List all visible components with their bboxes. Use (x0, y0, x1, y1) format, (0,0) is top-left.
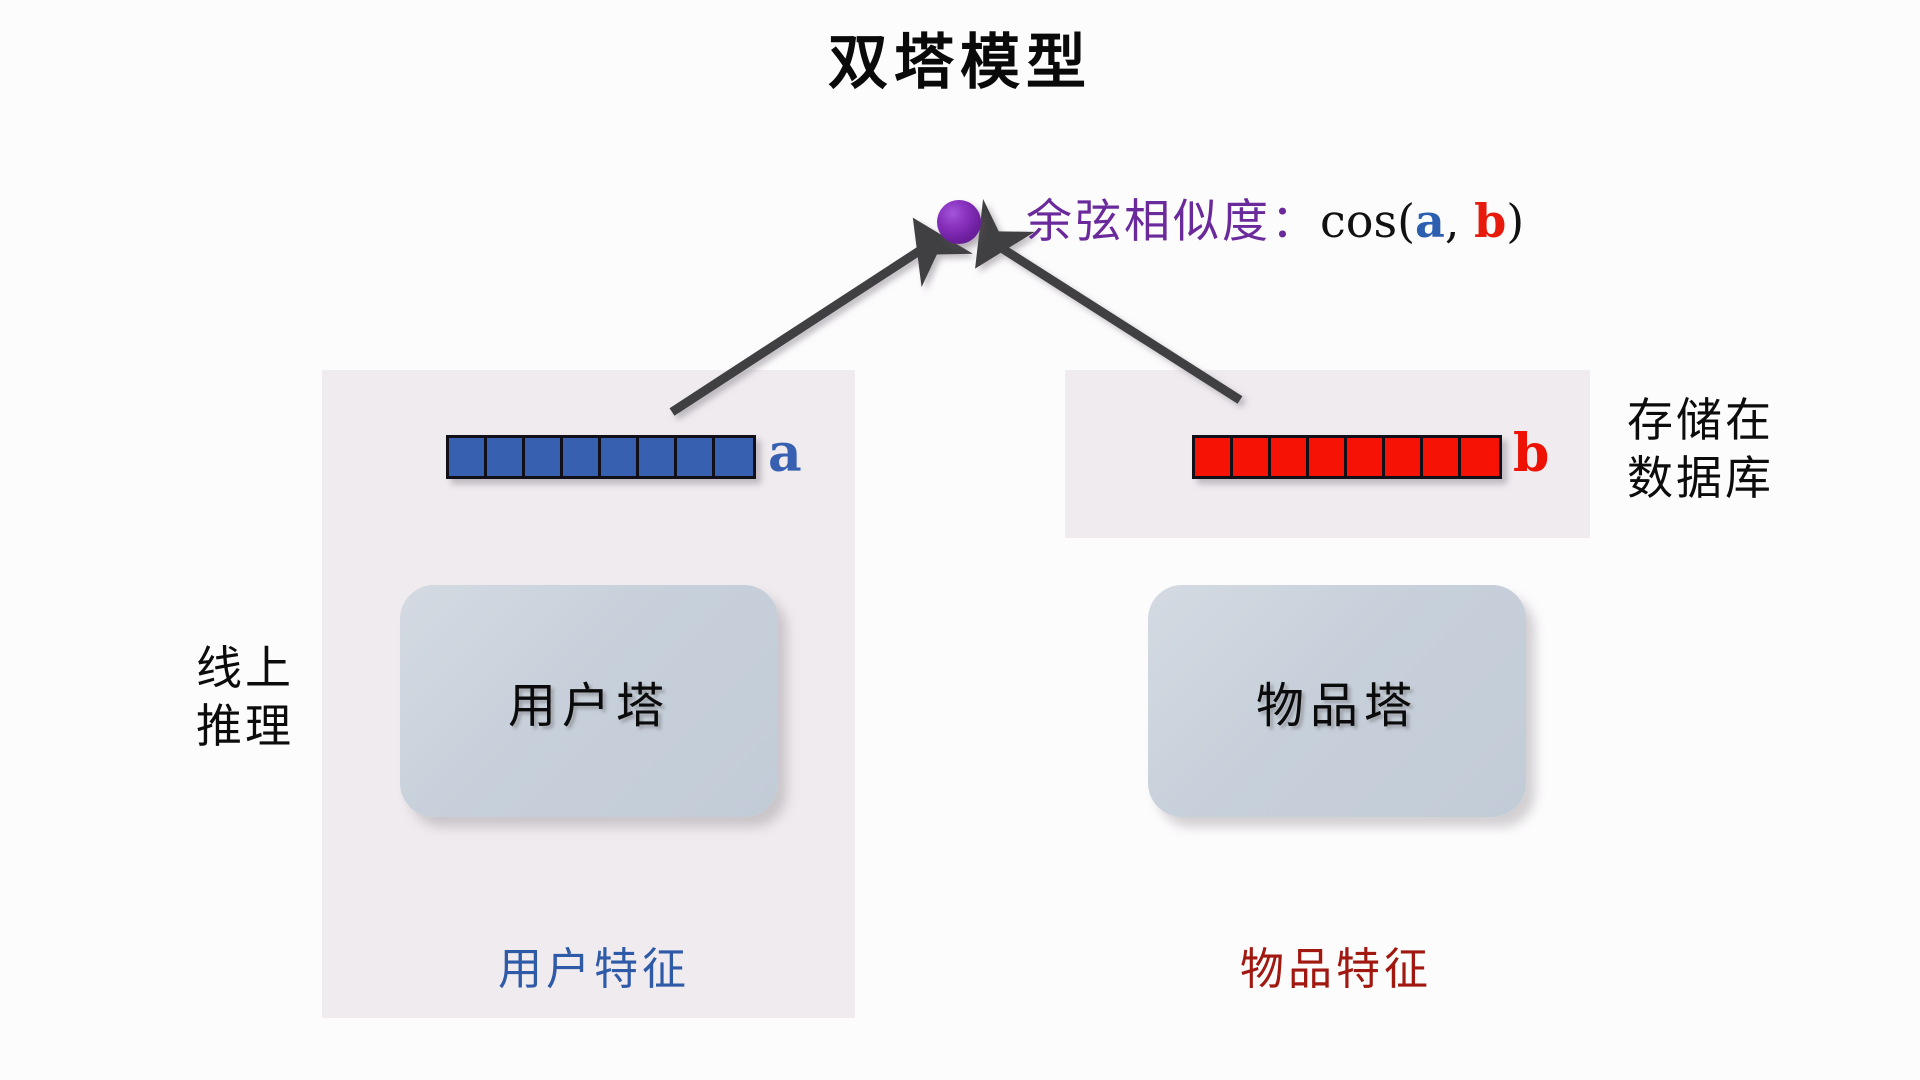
vector-cell (449, 438, 487, 476)
vector-cell (1423, 438, 1461, 476)
vector-b-label: b (1513, 428, 1549, 480)
embedding-vector-b (1192, 435, 1502, 479)
cosine-label-text: 余弦相似度： (1026, 194, 1320, 248)
vector-cell (525, 438, 563, 476)
vector-a-label: a (768, 428, 802, 480)
database-storage-note-line2: 数据库 (1627, 450, 1774, 508)
online-inference-note: 线上 推理 (196, 640, 294, 756)
vector-cell (677, 438, 715, 476)
cosine-similarity-node (937, 200, 981, 244)
online-inference-note-line1: 线上 (196, 640, 294, 698)
item-features-label: 物品特征 (1240, 933, 1432, 997)
vector-cell (487, 438, 525, 476)
diagram-canvas: 双塔模型 余弦相似度：cos(a, b) (0, 0, 1920, 1080)
cosine-arg-comma: , (1445, 194, 1474, 248)
embedding-vector-a (446, 435, 756, 479)
vector-cell (1233, 438, 1271, 476)
database-storage-note-line1: 存储在 (1627, 392, 1774, 450)
vector-cell (1461, 438, 1499, 476)
vector-cell (1195, 438, 1233, 476)
user-tower-box: 用户塔 (400, 585, 778, 817)
cosine-arg-a: a (1415, 194, 1445, 248)
cosine-similarity-label: 余弦相似度：cos(a, b) (1026, 185, 1524, 251)
cosine-arg-b: b (1474, 194, 1506, 248)
cosine-fn-open: cos( (1320, 194, 1415, 248)
item-tower-box: 物品塔 (1148, 585, 1526, 817)
database-storage-note: 存储在 数据库 (1627, 392, 1774, 508)
vector-cell (715, 438, 753, 476)
vector-cell (1309, 438, 1347, 476)
user-tower-label: 用户塔 (508, 666, 670, 736)
vector-cell (639, 438, 677, 476)
arrow-a-to-cosine (672, 244, 930, 412)
online-inference-note-line2: 推理 (196, 698, 294, 756)
vector-cell (1347, 438, 1385, 476)
arrow-b-to-cosine (992, 242, 1240, 400)
vector-cell (563, 438, 601, 476)
cosine-fn-close: ) (1506, 194, 1524, 248)
flow-arrows (0, 0, 1920, 1080)
user-features-label: 用户特征 (498, 933, 690, 997)
vector-cell (601, 438, 639, 476)
vector-cell (1271, 438, 1309, 476)
vector-cell (1385, 438, 1423, 476)
item-tower-label: 物品塔 (1256, 666, 1418, 736)
